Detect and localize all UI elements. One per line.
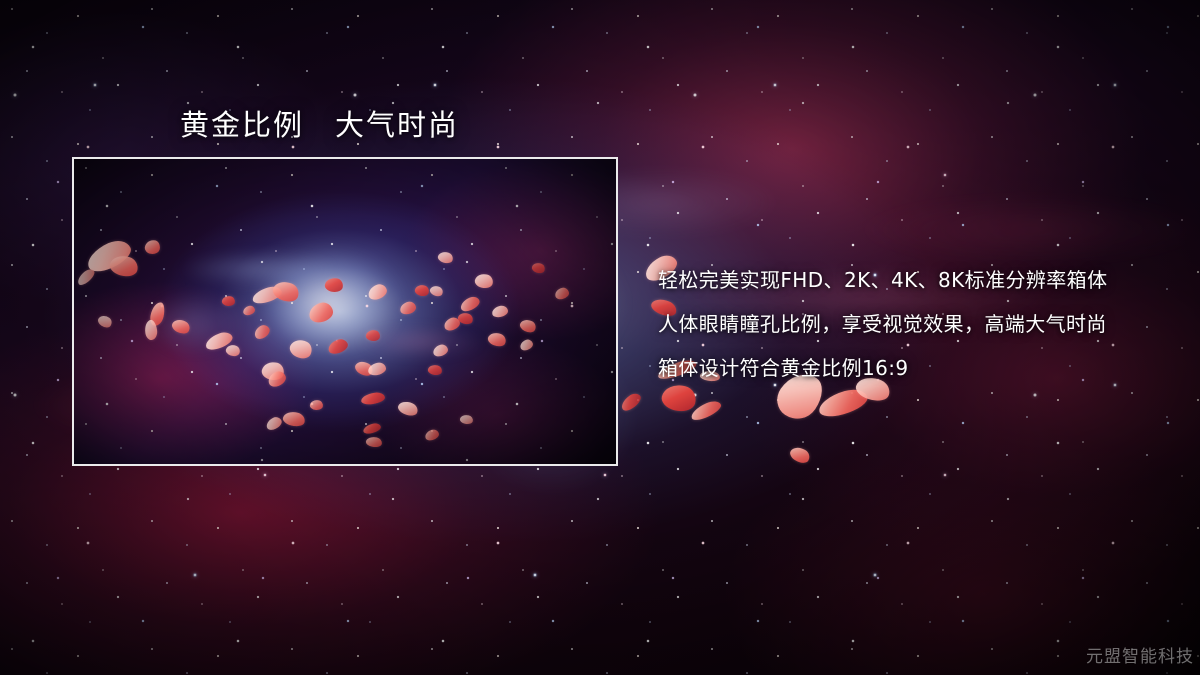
petal [251,284,284,306]
petal [108,253,140,280]
framed-image-panel [72,157,618,466]
petal [83,236,135,277]
petal [360,391,385,405]
petal [367,362,387,377]
petal [260,360,286,383]
panel-starfield-medium [74,159,616,464]
petal [282,410,307,429]
petal [309,399,323,411]
petal [427,364,443,377]
petal [353,358,375,378]
panel-core-glow [74,159,616,464]
petal [225,343,242,358]
petal [144,319,159,340]
petal [429,284,445,298]
petal [432,343,449,358]
petal [518,317,538,335]
petal [264,415,283,432]
body-line-3: 箱体设计符合黄金比例16:9 [658,346,1178,390]
petal [474,272,495,290]
petal [491,305,509,319]
petal [287,336,315,362]
panel-nebula-wisps [74,159,616,464]
petal [519,338,535,352]
petal [266,369,288,389]
petal [203,330,234,353]
petal [531,261,547,275]
petal [457,311,475,326]
panel-nebula-background [74,159,616,464]
petal [554,286,570,300]
petal [619,391,644,414]
petal [252,323,272,341]
petal [396,399,419,419]
petal [365,436,382,449]
presentation-slide: 黄金比例 大气时尚 轻松完美实现FHD、2K、4K、8K标准分辨率箱体 人体眼睛… [0,0,1200,675]
petal [399,300,417,315]
petal [689,398,724,423]
petal [414,283,430,297]
petal [365,329,381,342]
petal [324,277,344,294]
petal [221,295,235,307]
petal [144,239,161,255]
petal [486,330,507,348]
petal [242,305,256,317]
petal [437,250,455,265]
petal [459,414,474,426]
petal [307,301,334,325]
petal [424,428,440,441]
petal [149,301,167,327]
petal [788,444,812,466]
petal [443,316,462,332]
petal [96,313,114,330]
panel-vignette [74,159,616,464]
petal [326,337,349,356]
panel-starfield-small [74,159,616,464]
panel-petals [74,159,616,464]
petal [458,294,481,313]
body-text-block: 轻松完美实现FHD、2K、4K、8K标准分辨率箱体 人体眼睛瞳孔比例，享受视觉效… [658,258,1178,390]
page-title: 黄金比例 大气时尚 [180,102,459,144]
petal [366,282,389,302]
watermark: 元盟智能科技 [1086,642,1194,667]
petal [270,278,301,305]
petal [362,422,382,435]
petal [170,317,192,337]
body-line-1: 轻松完美实现FHD、2K、4K、8K标准分辨率箱体 [658,258,1178,302]
petal [816,386,870,421]
petal [75,267,97,288]
body-line-2: 人体眼睛瞳孔比例，享受视觉效果，高端大气时尚 [658,302,1178,346]
